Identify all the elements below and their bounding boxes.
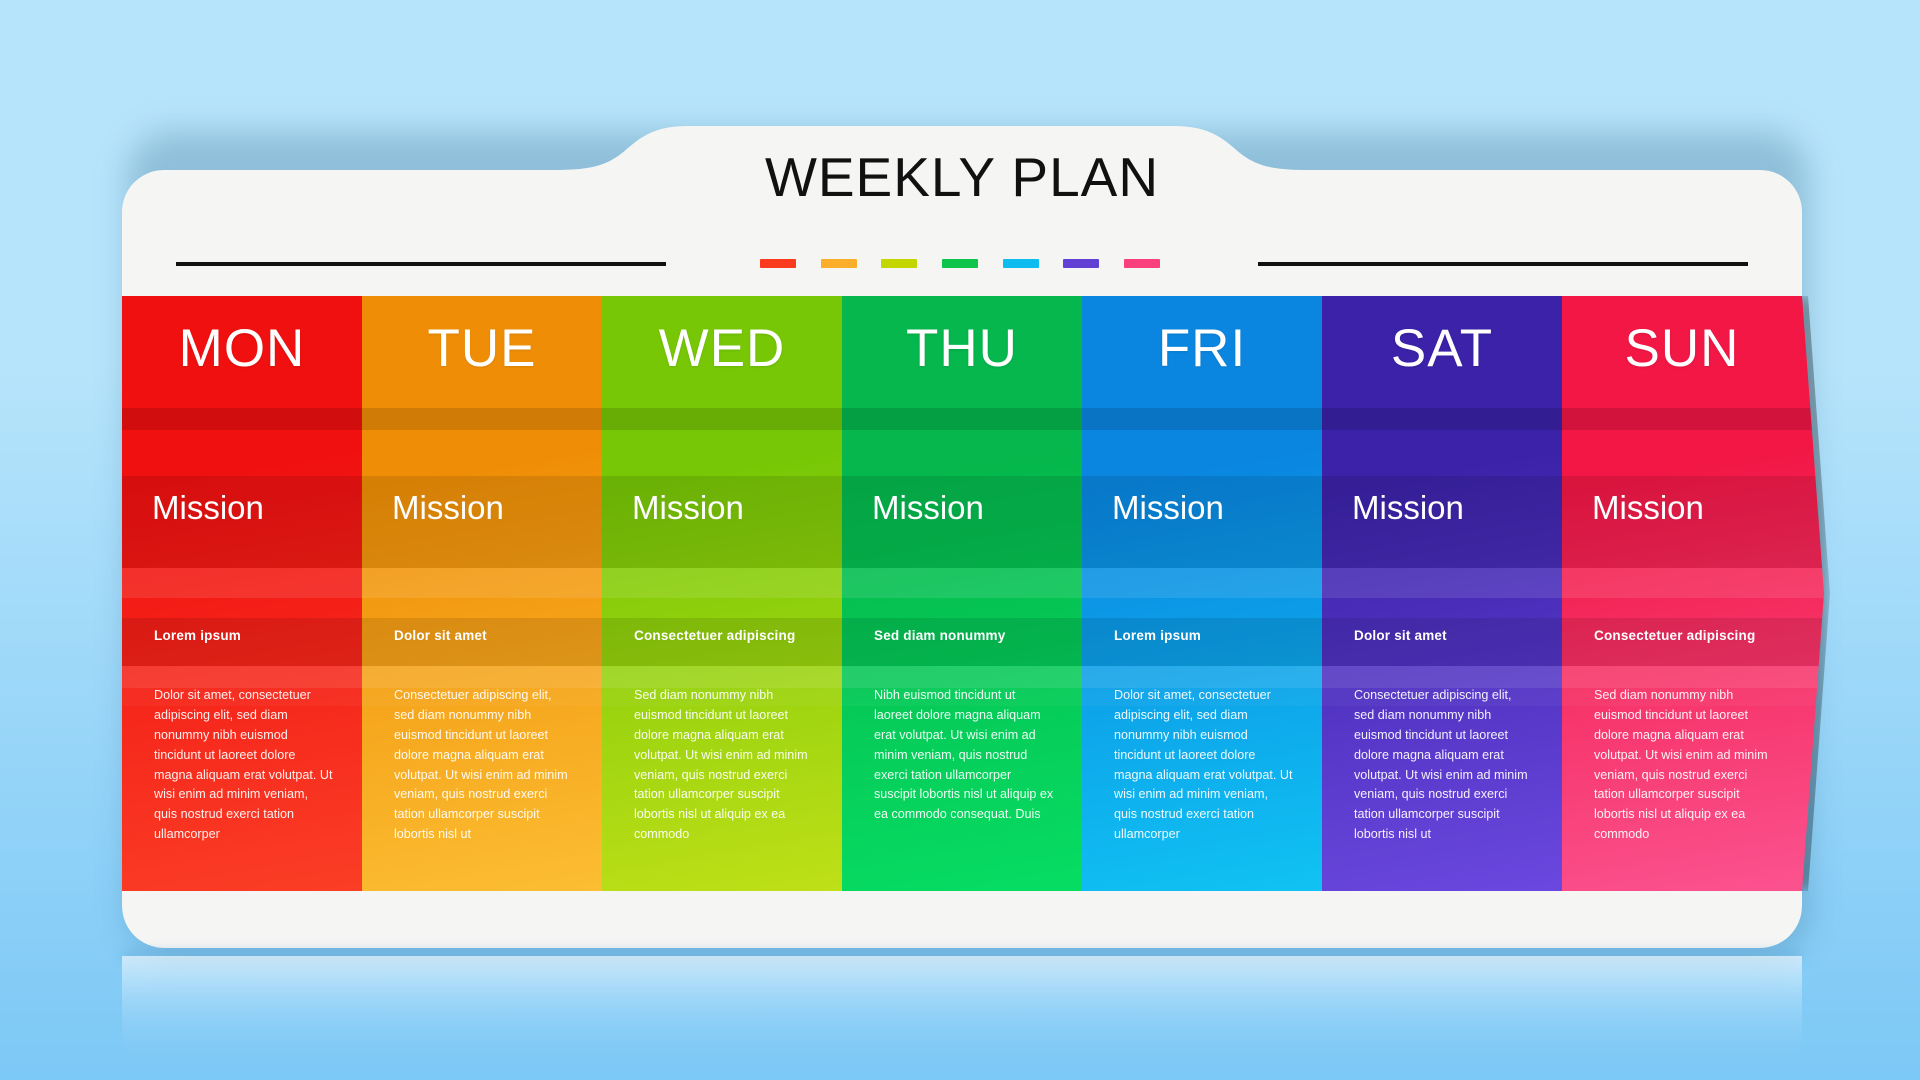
- band-subtitle-light: [362, 666, 624, 688]
- day-label: WED: [602, 322, 842, 375]
- dash-lime-icon: [881, 259, 917, 268]
- day-column-wed[interactable]: WED Mission Consectetuer adipiscing Sed …: [602, 296, 842, 891]
- day-column-fri[interactable]: FRI Mission Lorem ipsum Dolor sit amet, …: [1082, 296, 1322, 891]
- dash-green-icon: [942, 259, 978, 268]
- band-subtitle-light: [1562, 666, 1824, 688]
- day-column-thu[interactable]: THU Mission Sed diam nonummy Nibh euismo…: [842, 296, 1082, 891]
- band-head-shade: [362, 408, 624, 430]
- mission-label: Mission: [872, 491, 984, 524]
- color-legend-dashes: [760, 252, 1160, 274]
- band-mission-light: [1322, 568, 1584, 598]
- subtitle-label: Consectetuer adipiscing: [1594, 629, 1755, 643]
- band-head-shade: [1322, 408, 1584, 430]
- band-head-shade: [602, 408, 864, 430]
- body-text: Consectetuer adipiscing elit, sed diam n…: [394, 686, 574, 845]
- dash-purple-icon: [1063, 259, 1099, 268]
- divider-rule-right: [1258, 262, 1748, 266]
- day-column-sun[interactable]: SUN Mission Consectetuer adipiscing Sed …: [1562, 296, 1802, 891]
- body-text: Sed diam nonummy nibh euismod tincidunt …: [1594, 686, 1774, 845]
- day-column-mon[interactable]: MON Mission Lorem ipsum Dolor sit amet, …: [122, 296, 362, 891]
- band-subtitle-light: [122, 666, 384, 688]
- subtitle-label: Dolor sit amet: [1354, 629, 1447, 643]
- mission-label: Mission: [1112, 491, 1224, 524]
- card-reflection: [122, 956, 1802, 1080]
- dash-red-icon: [760, 259, 796, 268]
- band-subtitle-light: [1322, 666, 1584, 688]
- dash-cyan-icon: [1003, 259, 1039, 268]
- body-text: Sed diam nonummy nibh euismod tincidunt …: [634, 686, 814, 845]
- day-column-sat[interactable]: SAT Mission Dolor sit amet Consectetuer …: [1322, 296, 1562, 891]
- page-title: WEEKLY PLAN: [122, 150, 1802, 205]
- divider-rule-left: [176, 262, 666, 266]
- weekly-plan-infographic: WEEKLY PLAN: [0, 0, 1920, 1080]
- band-subtitle-light: [602, 666, 864, 688]
- band-mission-light: [362, 568, 624, 598]
- body-text: Nibh euismod tincidunt ut laoreet dolore…: [874, 686, 1054, 825]
- band-subtitle-light: [842, 666, 1104, 688]
- subtitle-label: Lorem ipsum: [1114, 629, 1201, 643]
- mission-label: Mission: [392, 491, 504, 524]
- band-subtitle-light: [1082, 666, 1344, 688]
- band-mission-light: [1082, 568, 1344, 598]
- day-label: TUE: [362, 322, 602, 375]
- day-label: FRI: [1082, 322, 1322, 375]
- dash-pink-icon: [1124, 259, 1160, 268]
- mission-label: Mission: [632, 491, 744, 524]
- body-text: Dolor sit amet, consectetuer adipiscing …: [154, 686, 334, 845]
- body-text: Consectetuer adipiscing elit, sed diam n…: [1354, 686, 1534, 845]
- mission-label: Mission: [1352, 491, 1464, 524]
- day-columns: MON Mission Lorem ipsum Dolor sit amet, …: [122, 296, 1802, 891]
- day-label: SAT: [1322, 322, 1562, 375]
- mission-label: Mission: [1592, 491, 1704, 524]
- subtitle-label: Sed diam nonummy: [874, 629, 1005, 643]
- band-mission-light: [602, 568, 864, 598]
- band-mission-light: [1562, 568, 1824, 598]
- band-head-shade: [1562, 408, 1824, 430]
- band-mission-light: [842, 568, 1104, 598]
- band-head-shade: [842, 408, 1104, 430]
- day-label: MON: [122, 322, 362, 375]
- plan-card: WEEKLY PLAN: [122, 126, 1802, 948]
- day-label: SUN: [1562, 322, 1802, 375]
- mission-label: Mission: [152, 491, 264, 524]
- day-label: THU: [842, 322, 1082, 375]
- band-head-shade: [1082, 408, 1344, 430]
- band-mission-light: [122, 568, 384, 598]
- body-text: Dolor sit amet, consectetuer adipiscing …: [1114, 686, 1294, 845]
- band-head-shade: [122, 408, 384, 430]
- divider: [122, 252, 1802, 274]
- day-column-tue[interactable]: TUE Mission Dolor sit amet Consectetuer …: [362, 296, 602, 891]
- subtitle-label: Dolor sit amet: [394, 629, 487, 643]
- subtitle-label: Lorem ipsum: [154, 629, 241, 643]
- dash-orange-icon: [821, 259, 857, 268]
- subtitle-label: Consectetuer adipiscing: [634, 629, 795, 643]
